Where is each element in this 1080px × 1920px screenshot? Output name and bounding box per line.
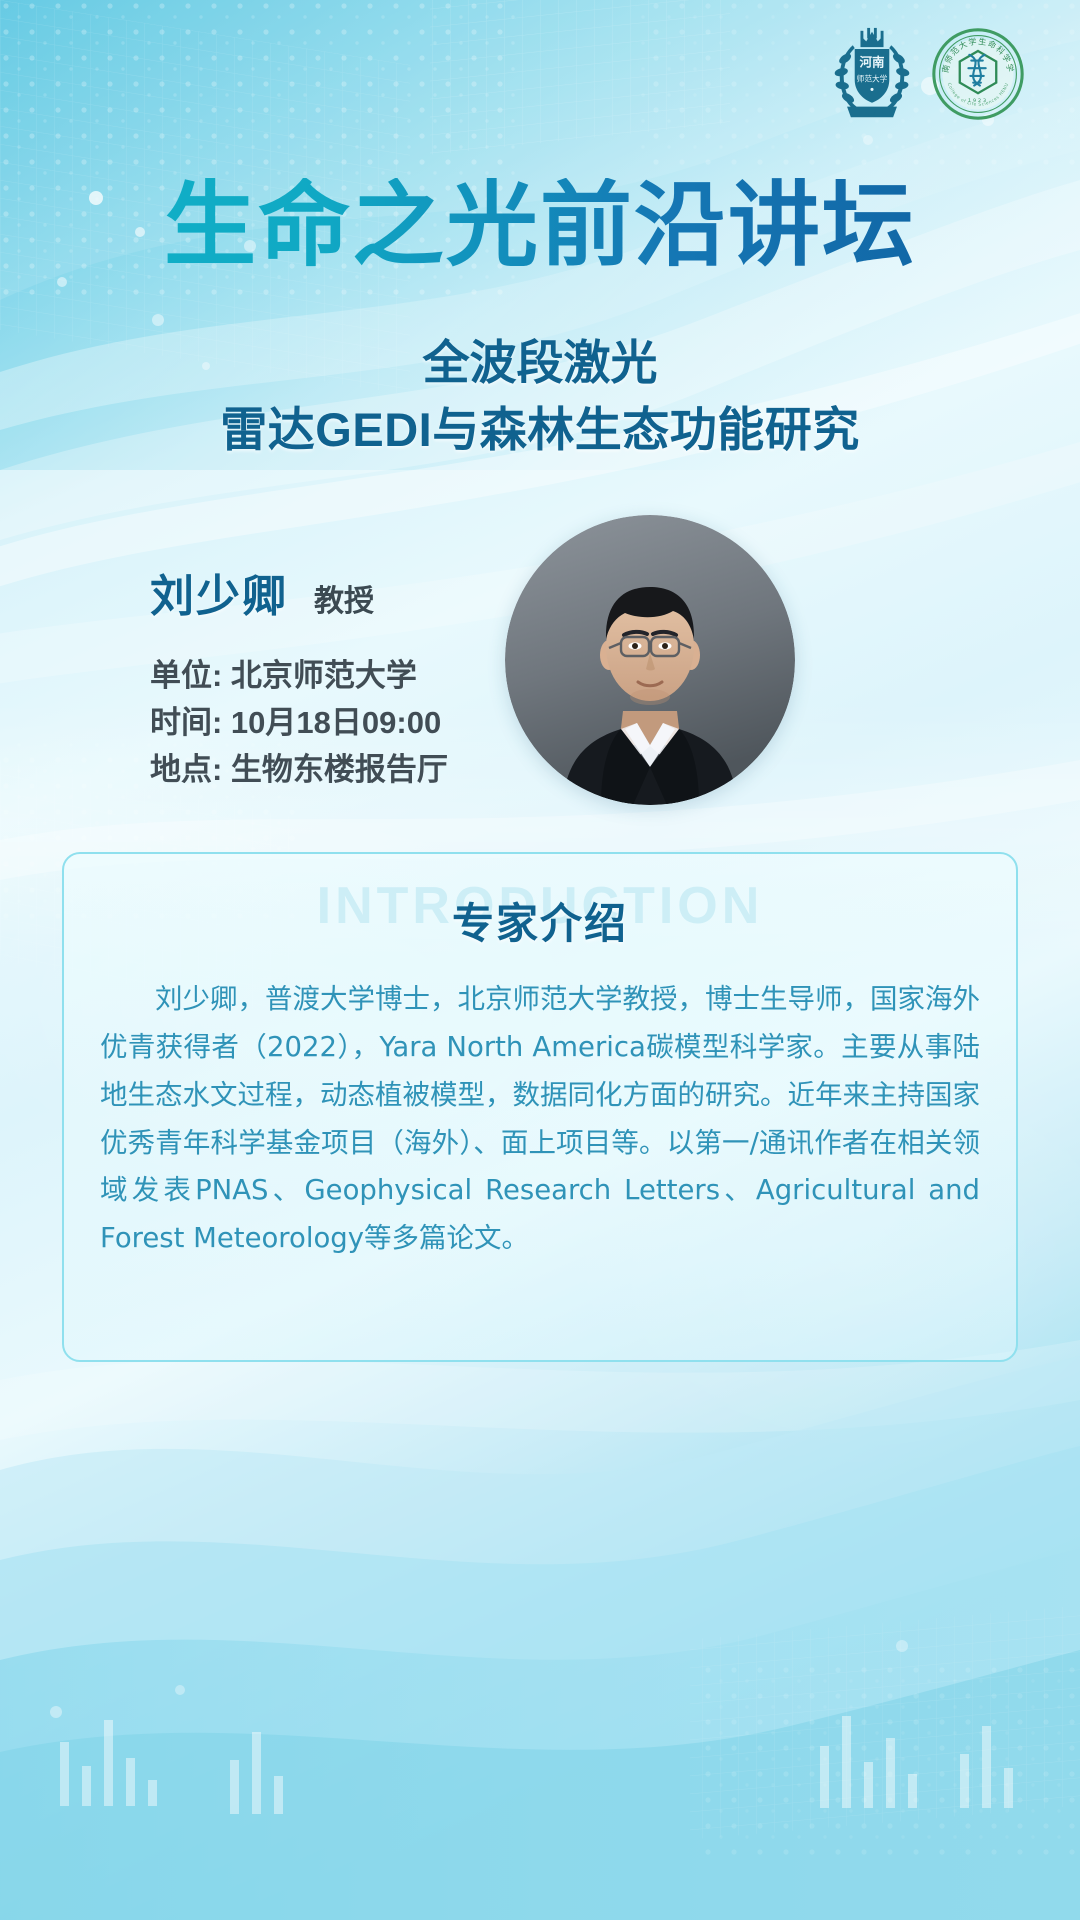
subtitle-line-1: 全波段激光 [0, 330, 1080, 397]
page-title: 生命之光前沿讲坛 [0, 178, 1080, 275]
henan-normal-university-logo: 河南 师范大学 1923 [824, 26, 920, 122]
expert-introduction-card: INTRODUCTION 专家介绍 刘少卿，普渡大学博士，北京师范大学教授，博士… [62, 852, 1018, 1362]
speaker-name-row: 刘少卿 教授 [150, 560, 570, 624]
lecture-time: 时间: 10月18日09:00 [150, 699, 570, 746]
speaker-name: 刘少卿 [150, 560, 288, 624]
lecture-location: 地点: 生物东楼报告厅 [150, 746, 570, 793]
intro-header: INTRODUCTION 专家介绍 [64, 854, 1016, 972]
lecture-subtitle: 全波段激光 雷达GEDI与森林生态功能研究 [0, 330, 1080, 463]
logo-henu-line1: 河南 [860, 54, 885, 69]
intro-heading: 专家介绍 [64, 890, 1016, 951]
portrait-image [505, 515, 795, 805]
logo-henu-line2: 师范大学 [857, 74, 888, 84]
intro-body-paragraph: 刘少卿，普渡大学博士，北京师范大学教授，博士生导师，国家海外优青获得者（2022… [100, 983, 980, 1254]
intro-body-text: 刘少卿，普渡大学博士，北京师范大学教授，博士生导师，国家海外优青获得者（2022… [100, 976, 980, 1263]
logo-cls-year: 1923 [968, 98, 988, 104]
subtitle-line-2: 雷达GEDI与森林生态功能研究 [0, 397, 1080, 464]
speaker-academic-title: 教授 [314, 576, 374, 620]
college-of-life-sciences-logo: 河南师范大学生命科学学院 College of Life Sciences HE… [930, 26, 1026, 122]
logo-henu-year: 1923 [857, 108, 886, 117]
logo-row: 河南 师范大学 1923 河南师范大学生命科学学院 College of Lif… [824, 26, 1026, 122]
speaker-portrait [505, 515, 795, 805]
